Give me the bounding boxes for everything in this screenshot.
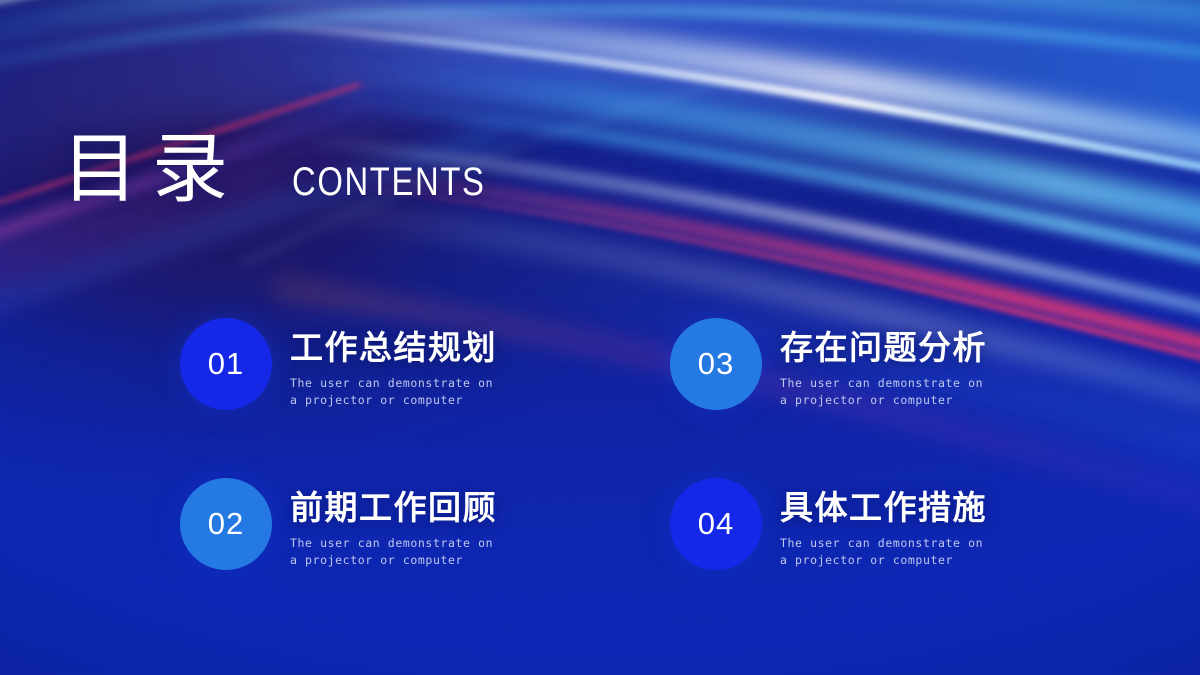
toc-badge-01: 01 <box>180 318 272 410</box>
table-of-contents: 01 工作总结规划 The user can demonstrate on a … <box>180 318 1080 638</box>
toc-subtitle-03: The user can demonstrate on a projector … <box>780 375 990 408</box>
page-title-cn: 目录 <box>62 132 242 208</box>
toc-text-03: 存在问题分析 The user can demonstrate on a pro… <box>780 318 990 408</box>
toc-text-02: 前期工作回顾 The user can demonstrate on a pro… <box>290 478 500 568</box>
toc-text-04: 具体工作措施 The user can demonstrate on a pro… <box>780 478 990 568</box>
toc-item-04[interactable]: 04 具体工作措施 The user can demonstrate on a … <box>670 478 1080 638</box>
toc-badge-03: 03 <box>670 318 762 410</box>
toc-subtitle-04: The user can demonstrate on a projector … <box>780 535 990 568</box>
toc-text-01: 工作总结规划 The user can demonstrate on a pro… <box>290 318 500 408</box>
toc-badge-04: 04 <box>670 478 762 570</box>
toc-item-01[interactable]: 01 工作总结规划 The user can demonstrate on a … <box>180 318 670 478</box>
toc-title-04: 具体工作措施 <box>780 490 990 526</box>
presentation-slide: 目录 CONTENTS 01 工作总结规划 The user can demon… <box>0 0 1200 675</box>
toc-title-02: 前期工作回顾 <box>290 490 500 526</box>
toc-item-03[interactable]: 03 存在问题分析 The user can demonstrate on a … <box>670 318 1080 478</box>
page-title-en: CONTENTS <box>292 162 486 202</box>
toc-badge-02: 02 <box>180 478 272 570</box>
page-title: 目录 CONTENTS <box>62 132 528 208</box>
toc-item-02[interactable]: 02 前期工作回顾 The user can demonstrate on a … <box>180 478 670 638</box>
toc-title-03: 存在问题分析 <box>780 330 990 366</box>
toc-subtitle-01: The user can demonstrate on a projector … <box>290 375 500 408</box>
toc-subtitle-02: The user can demonstrate on a projector … <box>290 535 500 568</box>
toc-title-01: 工作总结规划 <box>290 330 500 366</box>
